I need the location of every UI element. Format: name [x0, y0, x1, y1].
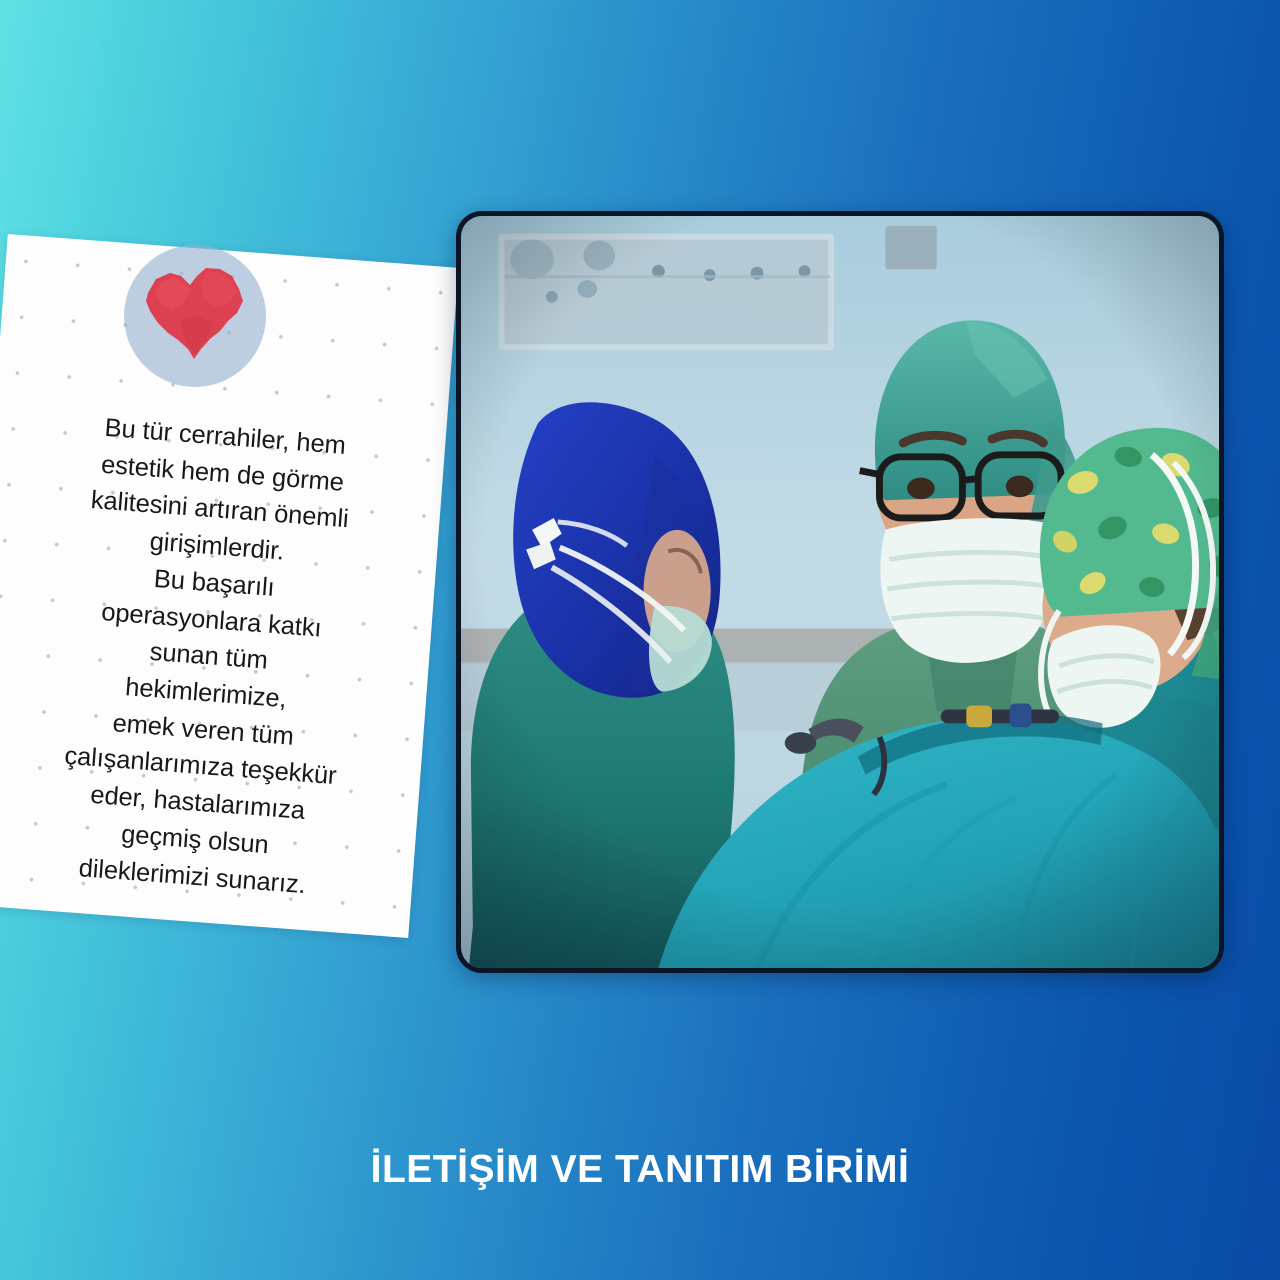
- message-card: Bu tür cerrahiler, hem estetik hem de gö…: [0, 234, 459, 938]
- message-text: Bu tür cerrahiler, hem estetik hem de gö…: [0, 403, 434, 910]
- surgery-photo-image: [461, 216, 1219, 968]
- surgery-photo: [456, 211, 1224, 973]
- poster-canvas: Bu tür cerrahiler, hem estetik hem de gö…: [0, 0, 1280, 1280]
- footer-caption: İLETİŞİM VE TANITIM BİRİMİ: [0, 1148, 1280, 1192]
